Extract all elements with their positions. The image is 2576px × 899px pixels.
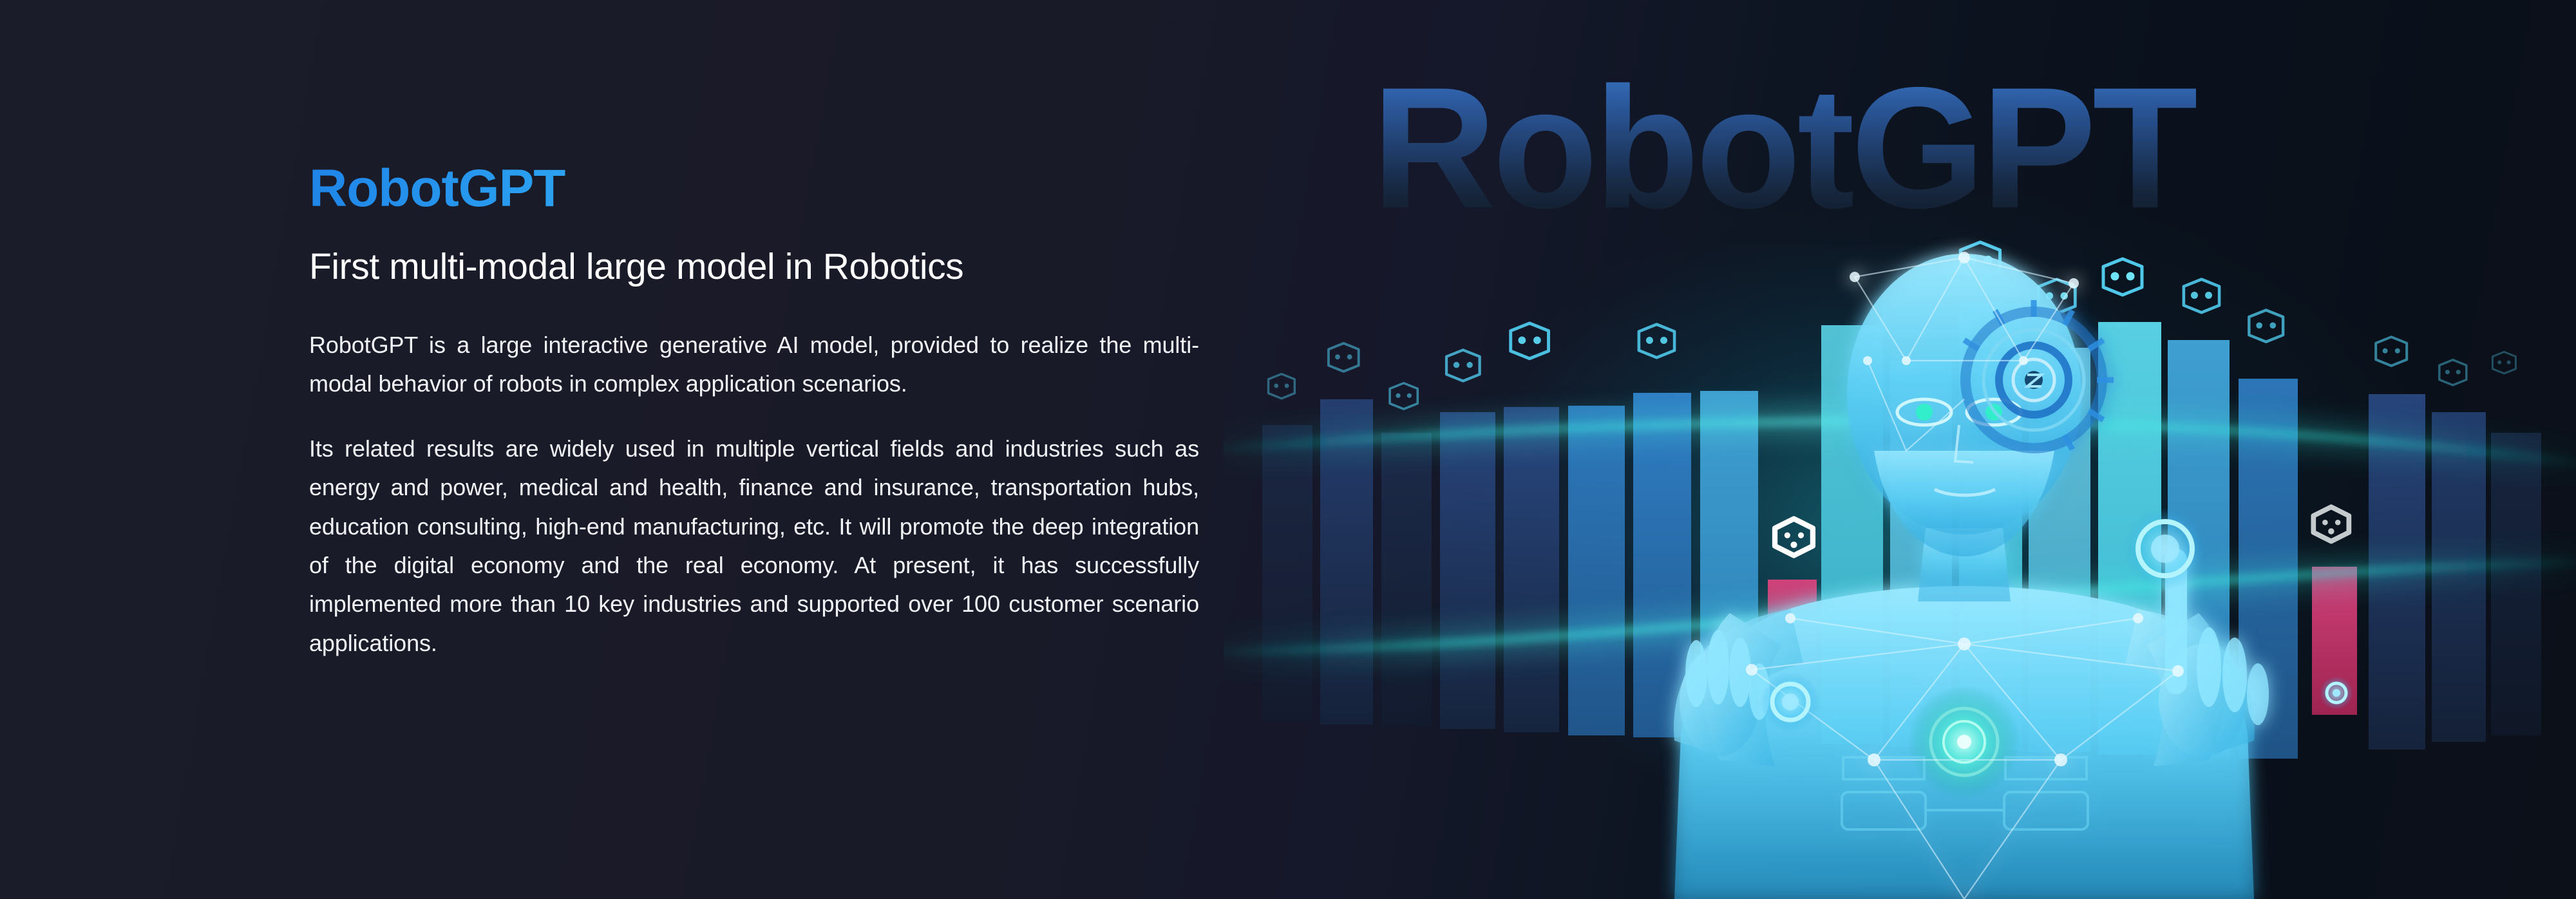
touch-ring-right	[2124, 507, 2206, 590]
robot-chest-core	[1908, 685, 2021, 799]
robot-figure	[1224, 0, 2576, 899]
hero-paragraph-2: Its related results are widely used in m…	[309, 430, 1199, 663]
touch-ring-small	[2320, 676, 2353, 710]
page-title: RobotGPT	[309, 161, 1224, 216]
touch-ring-left	[1761, 672, 1820, 732]
hero-subtitle: First multi-modal large model in Robotic…	[309, 246, 1224, 289]
robot-jaw	[1874, 451, 2054, 556]
hero-text-column: RobotGPT First multi-modal large model i…	[309, 161, 1224, 663]
hero-banner: RobotGPT First multi-modal large model i…	[0, 0, 2576, 899]
hero-paragraph-1: RobotGPT is a large interactive generati…	[309, 326, 1199, 404]
robot-iris-left	[1916, 404, 1933, 421]
hero-illustration: RobotGPT	[1224, 0, 2576, 899]
